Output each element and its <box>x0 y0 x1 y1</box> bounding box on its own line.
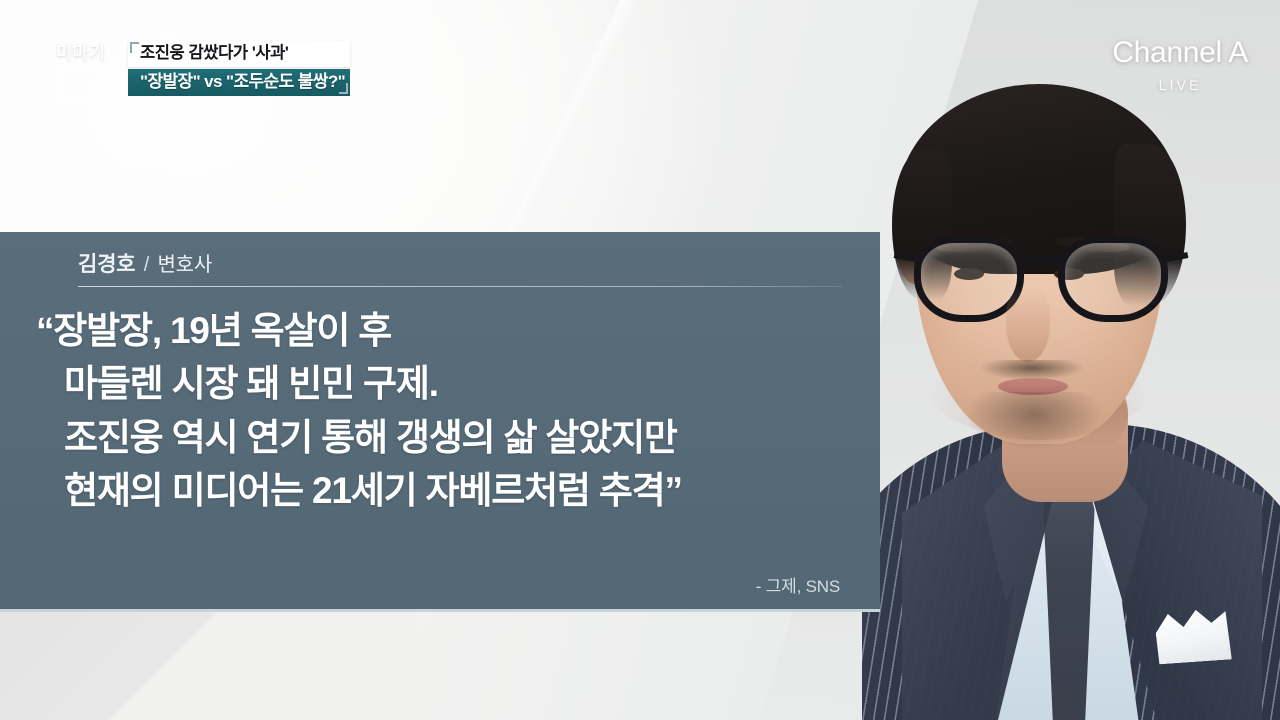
lower-third-quote-panel: 김경호 / 변호사 “장발장, 19년 옥살이 후 마들렌 시장 돼 빈민 구제… <box>0 232 880 612</box>
station-logo-text: 미마기 <box>56 38 106 63</box>
headline-secondary-text: "장발장" vs "조두순도 불쌍?" <box>140 72 345 91</box>
channel-name: Channel A <box>1112 38 1248 68</box>
quote-line: 조진웅 역시 연기 통해 갱생의 삶 살았지만 <box>36 411 896 464</box>
quote-line: 현재의 미디어는 21세기 자베르처럼 추격” <box>36 464 896 517</box>
quote-text-block: “장발장, 19년 옥살이 후 마들렌 시장 돼 빈민 구제. 조진웅 역시 연… <box>36 304 896 517</box>
station-logo-mark-icon <box>58 64 102 104</box>
live-badge: LIVE <box>1112 78 1248 93</box>
person-portrait <box>862 0 1280 720</box>
speaker-name: 김경호 <box>78 253 135 276</box>
speaker-attribution: 김경호 / 변호사 <box>78 248 212 278</box>
glasses-bridge <box>1020 256 1064 263</box>
mustache <box>980 360 1084 380</box>
broadcast-screen: 미마기 조진웅 감쌌다가 '사과' "장발장" vs "조두순도 불쌍?" Ch… <box>0 0 1280 720</box>
headline-bracket-icon <box>130 42 139 53</box>
quote-source: - 그제, SNS <box>756 572 840 597</box>
headline-banner: 조진웅 감쌌다가 '사과' "장발장" vs "조두순도 불쌍?" <box>128 41 350 96</box>
station-logo: 미마기 <box>56 38 132 106</box>
chin-beard <box>968 392 1100 448</box>
channel-brand: Channel A LIVE <box>1112 38 1248 93</box>
headline-bracket-bottom-icon <box>339 83 348 94</box>
quote-line: “장발장, 19년 옥살이 후 <box>36 304 896 357</box>
glasses-lens-right <box>1058 236 1168 322</box>
speaker-separator: / <box>144 254 149 276</box>
speaker-role: 변호사 <box>157 254 212 276</box>
headline-primary: 조진웅 감쌌다가 '사과' <box>128 41 350 67</box>
quote-line: 마들렌 시장 돼 빈민 구제. <box>36 357 896 410</box>
headline-secondary: "장발장" vs "조두순도 불쌍?" <box>128 69 350 96</box>
speaker-divider <box>78 286 842 287</box>
headline-primary-text: 조진웅 감쌌다가 '사과' <box>140 44 288 62</box>
nose <box>1006 286 1050 362</box>
